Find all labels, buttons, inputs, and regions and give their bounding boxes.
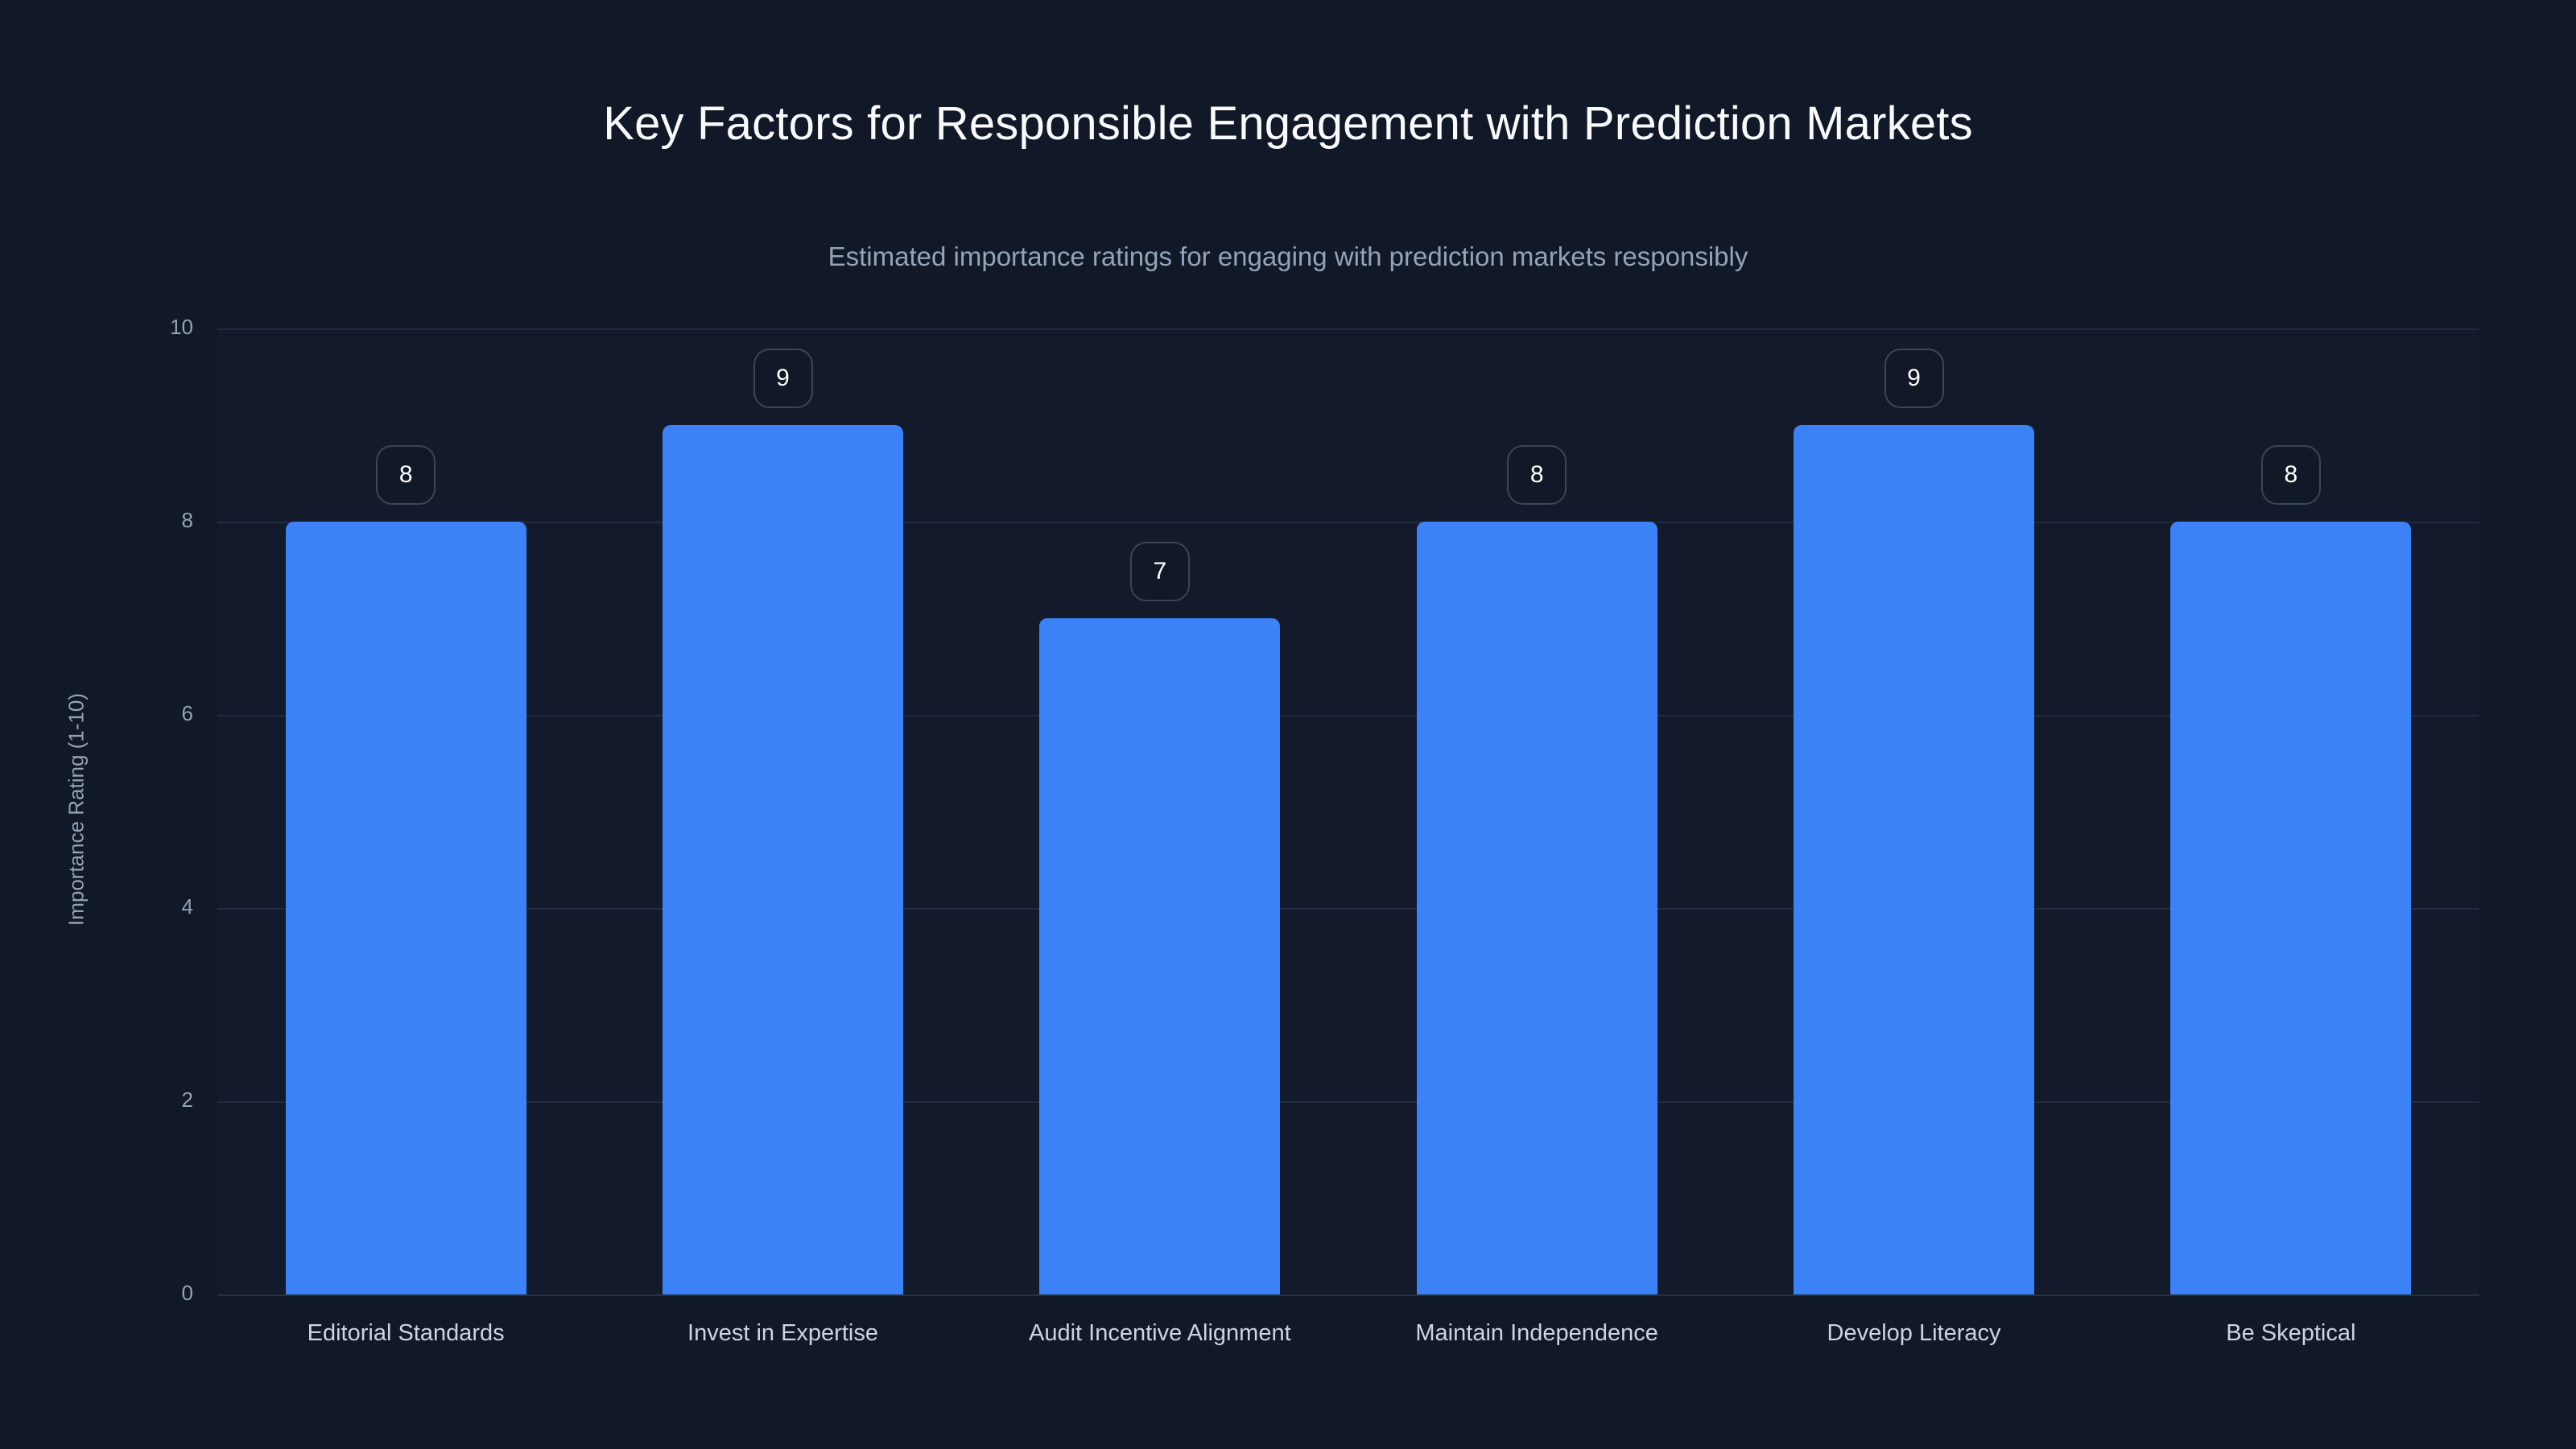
bar-value-badge: 8 (376, 445, 436, 505)
bar[interactable] (1417, 522, 1657, 1294)
gridline-0 (217, 1294, 2479, 1296)
y-tick-label: 0 (182, 1281, 193, 1306)
gridline-8 (217, 522, 2479, 523)
y-tick-label: 6 (182, 701, 193, 726)
bar[interactable] (286, 522, 526, 1294)
bar-value-badge: 7 (1130, 542, 1190, 601)
bar-value-badge: 8 (1507, 445, 1567, 505)
gridline-4 (217, 908, 2479, 910)
chart-subtitle: Estimated importance ratings for engagin… (0, 242, 2576, 272)
gridline-10 (217, 328, 2479, 330)
bar-value-badge: 9 (753, 349, 813, 408)
x-tick-label: Editorial Standards (308, 1320, 505, 1347)
x-tick-label: Invest in Expertise (687, 1320, 878, 1347)
gridline-2 (217, 1101, 2479, 1103)
y-tick-label: 4 (182, 894, 193, 919)
bar-value-badge: 8 (2261, 445, 2321, 505)
y-tick-label: 10 (170, 315, 193, 340)
bar[interactable] (1794, 425, 2034, 1294)
bar[interactable] (663, 425, 903, 1294)
x-tick-label: Maintain Independence (1415, 1320, 1658, 1347)
y-tick-label: 8 (182, 508, 193, 533)
bar-chart-canvas: Key Factors for Responsible Engagement w… (0, 0, 2576, 1449)
y-axis-title: Importance Rating (1-10) (64, 673, 89, 947)
plot-area (217, 328, 2479, 1294)
x-tick-label: Develop Literacy (1827, 1320, 2001, 1347)
gridline-6 (217, 715, 2479, 716)
bar-value-badge: 9 (1885, 349, 1944, 408)
bar[interactable] (1039, 618, 1280, 1294)
bar[interactable] (2170, 522, 2411, 1294)
x-tick-label: Audit Incentive Alignment (1029, 1320, 1291, 1347)
y-tick-label: 2 (182, 1088, 193, 1113)
chart-title: Key Factors for Responsible Engagement w… (0, 97, 2576, 151)
x-tick-label: Be Skeptical (2226, 1320, 2355, 1347)
